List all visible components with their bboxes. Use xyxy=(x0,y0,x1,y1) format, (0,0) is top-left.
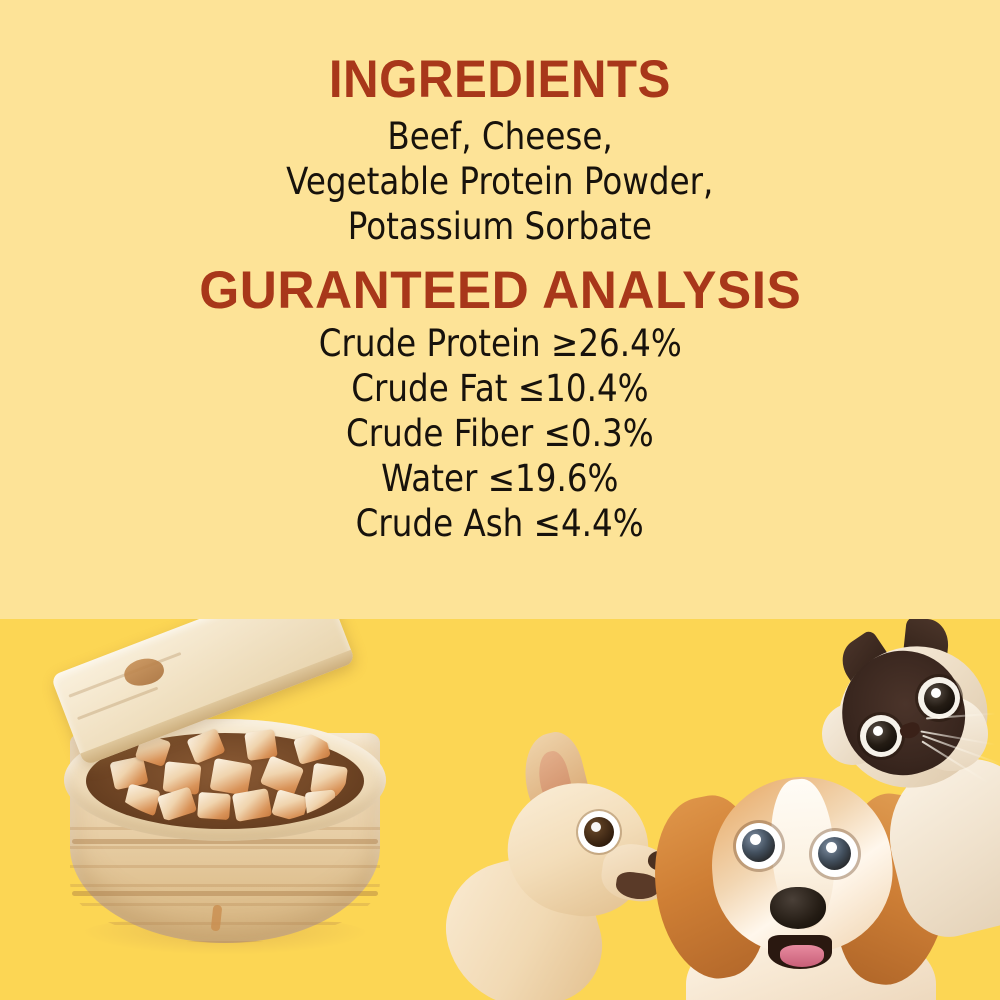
cat-pupil xyxy=(866,721,897,752)
ingredients-list: Beef, Cheese, Vegetable Protein Powder, … xyxy=(257,114,743,249)
guaranteed-analysis-heading: GURANTEED ANALYSIS xyxy=(199,263,801,319)
nutrition-info-panel: INGREDIENTS Beef, Cheese, Vegetable Prot… xyxy=(0,0,1000,619)
ingredients-heading: INGREDIENTS xyxy=(329,52,671,108)
ingredients-line: Vegetable Protein Powder, xyxy=(286,159,713,204)
analysis-row: Crude Fiber ≤0.3% xyxy=(346,411,654,456)
himalayan-cat xyxy=(808,619,1000,911)
analysis-row: Crude Fat ≤10.4% xyxy=(351,366,648,411)
cat-eye-glint xyxy=(873,726,883,736)
guaranteed-analysis-list: Crude Protein ≥26.4% Crude Fat ≤10.4% Cr… xyxy=(294,321,707,547)
product-photo-band xyxy=(0,619,1000,1000)
analysis-row: Crude Ash ≤4.4% xyxy=(356,501,644,546)
chihuahua-eye-glint xyxy=(591,822,601,832)
cat-pupil xyxy=(924,683,955,714)
ingredients-line: Beef, Cheese, xyxy=(387,114,612,159)
guaranteed-analysis-section: GURANTEED ANALYSIS Crude Protein ≥26.4% … xyxy=(190,263,811,546)
bamboo-steamer-basket xyxy=(28,619,418,1000)
spaniel-tongue xyxy=(780,945,824,967)
product-label-image: INGREDIENTS Beef, Cheese, Vegetable Prot… xyxy=(0,0,1000,1000)
lid-wood-grain xyxy=(77,687,158,721)
chihuahua-pupil xyxy=(584,817,614,847)
spaniel-eye-glint xyxy=(750,834,761,845)
cat-eye-glint xyxy=(931,688,941,698)
analysis-row: Water ≤19.6% xyxy=(381,456,618,501)
basket-band xyxy=(72,891,378,896)
ingredients-line: Potassium Sorbate xyxy=(348,204,652,249)
analysis-row: Crude Protein ≥26.4% xyxy=(318,321,681,366)
